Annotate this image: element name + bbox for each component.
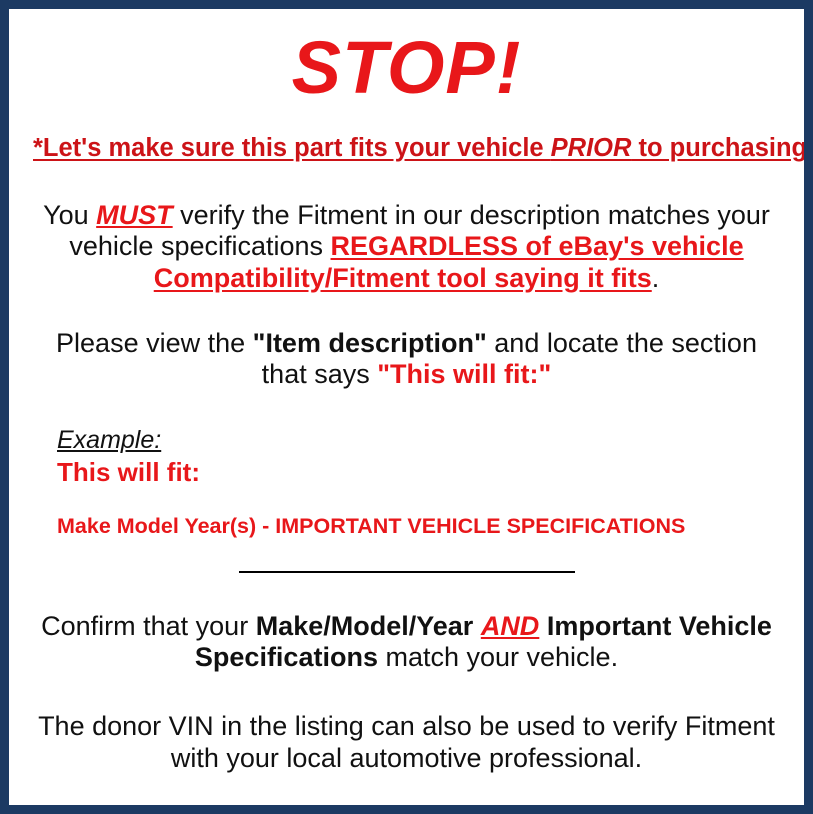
subtitle-warning: *Let's make sure this part fits your veh… [33, 105, 780, 162]
thank-you-line: Thank you for confirming Fitment! [33, 774, 780, 814]
subtitle-text-after: to purchasing* [631, 134, 813, 162]
itemdesc-text-1: Please view the [56, 328, 253, 358]
confirm-space-2 [539, 611, 547, 641]
make-model-year-bold: Make/Model/Year [256, 611, 474, 641]
fitment-notice-body: STOP! *Let's make sure this part fits yo… [9, 9, 804, 805]
confirm-text-2: match your vehicle. [378, 642, 618, 672]
example-spec-line: Make Model Year(s) - IMPORTANT VEHICLE S… [57, 488, 780, 539]
example-block: Example: This will fit: Make Model Year(… [33, 391, 780, 539]
paragraph-confirm: Confirm that your Make/Model/Year AND Im… [33, 582, 780, 674]
horizontal-divider [239, 571, 575, 573]
and-emphasis: AND [481, 611, 540, 641]
subtitle-text-before: *Let's make sure this part fits your veh… [33, 134, 551, 162]
example-label: Example: [57, 427, 780, 455]
this-will-fit-quote: "This will fit:" [377, 359, 551, 389]
must-text-1: You [43, 200, 96, 230]
item-description-label: "Item description" [253, 328, 487, 358]
must-text-3: . [652, 263, 660, 293]
divider-wrapper [33, 539, 780, 582]
confirm-text-1: Confirm that your [41, 611, 256, 641]
confirm-space-1 [473, 611, 481, 641]
page-title: STOP! [33, 9, 780, 105]
must-emphasis: MUST [96, 200, 173, 230]
paragraph-item-description: Please view the "Item description" and l… [33, 294, 780, 391]
fitment-notice-frame: STOP! *Let's make sure this part fits yo… [0, 0, 813, 814]
paragraph-must-verify: You MUST verify the Fitment in our descr… [33, 162, 780, 294]
example-fit-heading: This will fit: [57, 454, 780, 488]
paragraph-donor-vin: The donor VIN in the listing can also be… [33, 673, 780, 774]
subtitle-prior-emphasis: PRIOR [551, 134, 632, 162]
